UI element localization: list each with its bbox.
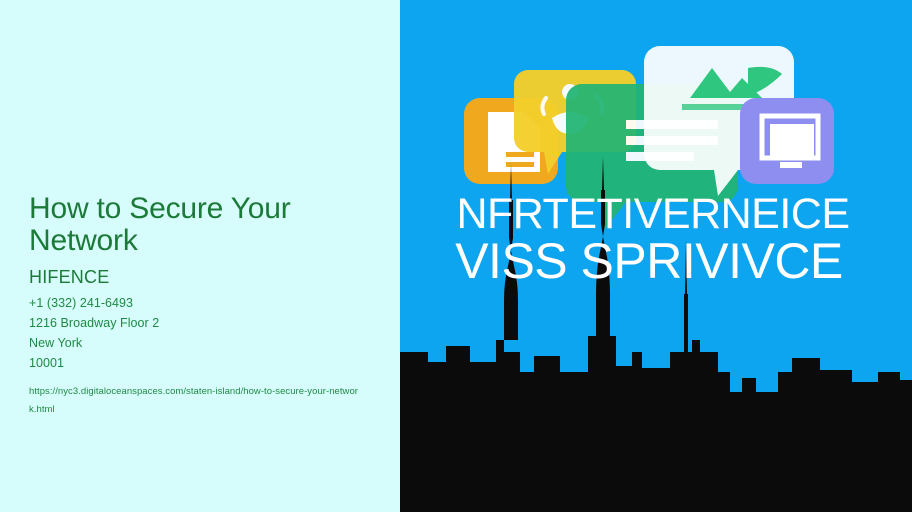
info-block: How to Secure Your Network HIFENCE +1 (3… [29, 193, 374, 420]
page-title: How to Secure Your Network [29, 193, 329, 256]
page-root: How to Secure Your Network HIFENCE +1 (3… [0, 0, 912, 512]
phone-number: +1 (332) 241-6493 [29, 293, 374, 313]
hero-panel: NFRTETIVERNEICE VISS SPRIVIVCE [400, 0, 912, 512]
source-url-link[interactable]: https://nyc3.digitaloceanspaces.com/stat… [29, 383, 365, 420]
city-line: New York [29, 333, 374, 353]
zip-line: 10001 [29, 353, 374, 373]
hero-illustration [400, 0, 912, 512]
info-panel: How to Secure Your Network HIFENCE +1 (3… [0, 0, 400, 512]
monitor-card [740, 98, 834, 184]
address-line: 1216 Broadway Floor 2 [29, 313, 374, 333]
brand-name: HIFENCE [29, 266, 374, 289]
